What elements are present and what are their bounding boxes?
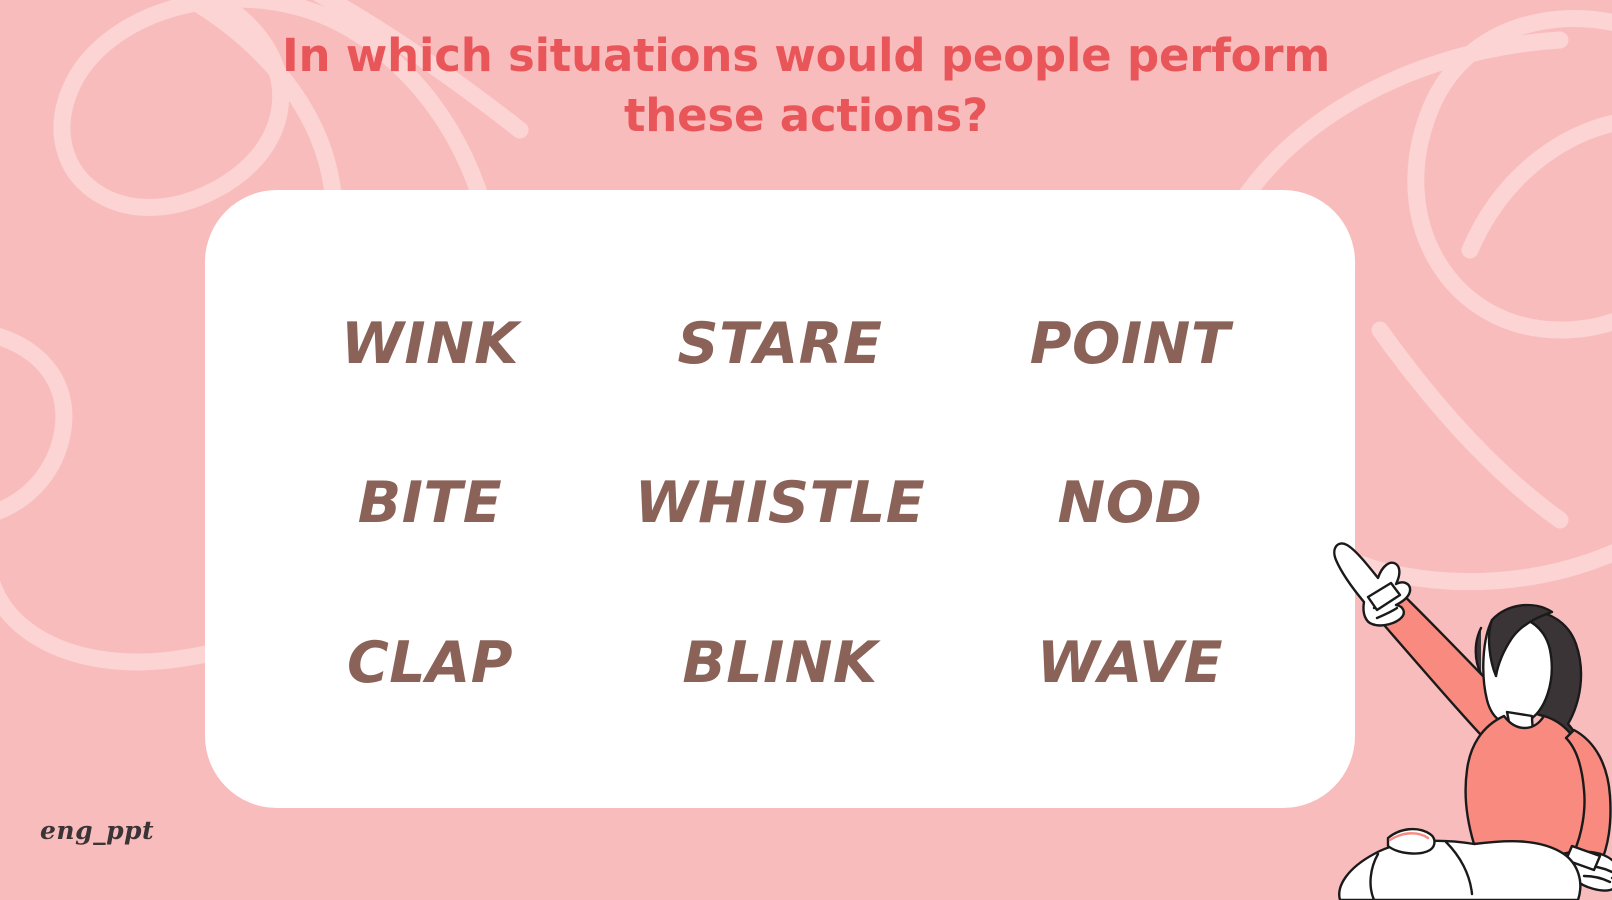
- seated-woman-pointing-up-illustration-icon: [1278, 498, 1612, 900]
- word-item[interactable]: STARE: [678, 316, 883, 373]
- action-word-grid: WINK STARE POINT BITE WHISTLE NOD CLAP B…: [215, 195, 1345, 803]
- word-item[interactable]: POINT: [1030, 316, 1231, 373]
- word-item[interactable]: BLINK: [682, 635, 877, 692]
- word-item[interactable]: WHISTLE: [635, 475, 925, 532]
- title-line-1: In which situations would people perform: [0, 26, 1612, 86]
- page-title: In which situations would people perform…: [0, 26, 1612, 146]
- word-item[interactable]: BITE: [358, 475, 502, 532]
- word-item[interactable]: WINK: [341, 316, 519, 373]
- word-item[interactable]: CLAP: [347, 635, 513, 692]
- word-item[interactable]: WAVE: [1037, 635, 1223, 692]
- watermark-label: eng_ppt: [40, 816, 154, 845]
- word-item[interactable]: NOD: [1058, 475, 1203, 532]
- title-line-2: these actions?: [0, 86, 1612, 146]
- slide-canvas: In which situations would people perform…: [0, 0, 1612, 900]
